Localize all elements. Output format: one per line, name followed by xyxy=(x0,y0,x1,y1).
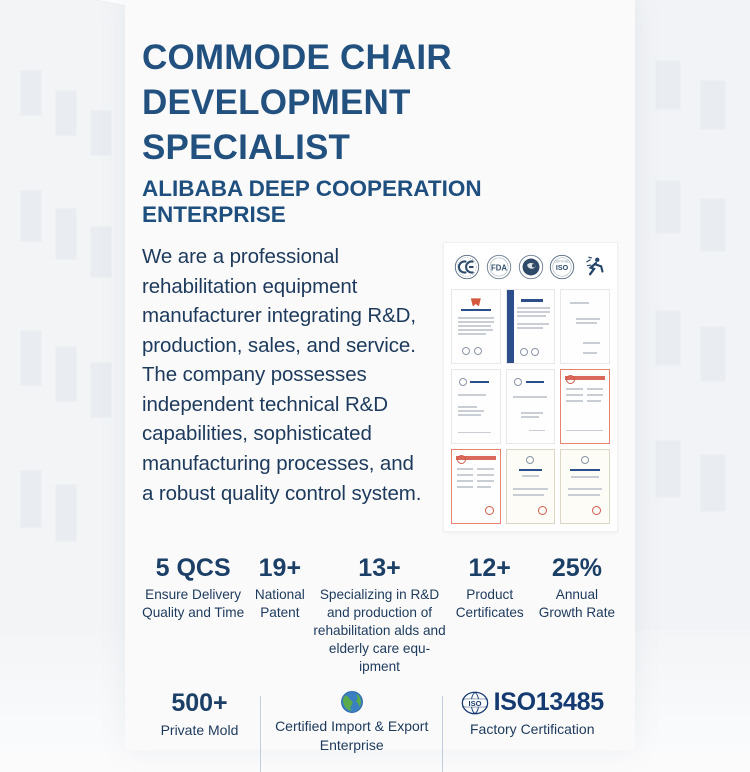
certificate-thumbnail xyxy=(560,289,610,364)
certificate-thumbnail xyxy=(506,369,556,444)
globe-icon xyxy=(340,690,364,714)
window xyxy=(55,484,77,542)
stat-item: 19+ National Patent xyxy=(247,554,312,622)
bottom-row: 500+ Private Mold Certified Import & Exp… xyxy=(125,688,635,772)
svg-text:FDA: FDA xyxy=(491,264,507,273)
page-title-line2: DEVELOPMENT SPECIALIST xyxy=(142,81,617,171)
svg-text:CERTIFIED: CERTIFIED xyxy=(555,260,570,264)
bottom-label: Private Mold xyxy=(139,721,260,740)
window xyxy=(655,60,681,110)
iso-certification-item: ISO ISO13485 Factory Certification xyxy=(443,688,621,739)
intro-section: We are a professional rehabilitation equ… xyxy=(125,228,635,532)
window xyxy=(655,440,681,498)
bottom-label: Factory Certification xyxy=(443,720,621,739)
circle-badge-icon xyxy=(518,254,544,280)
window xyxy=(700,198,726,252)
window xyxy=(20,70,42,116)
iso-badge-icon: ISO CERTIFIED xyxy=(549,254,575,280)
stat-number: 19+ xyxy=(247,554,312,584)
window xyxy=(90,110,112,156)
window xyxy=(700,326,726,382)
stat-number: 12+ xyxy=(447,554,533,584)
bottom-number: 500+ xyxy=(139,688,260,718)
fda-badge-icon: FDA xyxy=(486,254,512,280)
window xyxy=(55,208,77,260)
window xyxy=(20,330,42,386)
import-export-item: Certified Import & Export Enterprise xyxy=(261,688,442,755)
ce-badge-icon xyxy=(454,254,480,280)
window xyxy=(55,346,77,402)
certificate-thumbnail xyxy=(560,369,610,444)
stat-number: 5 QCS xyxy=(139,554,247,584)
stat-label: National Patent xyxy=(247,586,312,622)
stat-label: Annual Growth Rate xyxy=(533,586,621,622)
certificate-thumbnail xyxy=(451,449,501,524)
stat-label: Specializing in R&D and production of re… xyxy=(312,586,446,676)
svg-text:ISO: ISO xyxy=(556,264,569,272)
window xyxy=(20,190,42,242)
stats-row: 5 QCS Ensure Delivery Quality and Time 1… xyxy=(125,532,635,676)
stat-label: Ensure Delivery Quality and Time xyxy=(139,586,247,622)
window xyxy=(90,362,112,418)
header-block: COMMODE CHAIR DEVELOPMENT SPECIALIST ALI… xyxy=(125,0,635,228)
stat-item: 12+ Product Certificates xyxy=(447,554,533,622)
stat-item: 25% Annual Growth Rate xyxy=(533,554,621,622)
svg-text:ISO: ISO xyxy=(468,699,481,708)
window xyxy=(700,454,726,512)
page-title-line1: COMMODE CHAIR xyxy=(142,36,617,81)
bottom-label: Certified Import & Export Enterprise xyxy=(269,717,434,755)
page-subtitle: ALIBABA DEEP COOPERATION ENTERPRISE xyxy=(142,176,617,228)
stat-number: 13+ xyxy=(312,554,446,584)
stat-number: 25% xyxy=(533,554,621,584)
certificate-thumbnail xyxy=(451,369,501,444)
figure-badge-icon xyxy=(581,254,607,280)
certificate-thumbnail xyxy=(506,289,556,364)
certification-badge-row: FDA ISO CERTIFIED xyxy=(451,252,610,280)
window xyxy=(55,90,77,136)
iso-standard-number: ISO13485 xyxy=(494,688,604,717)
stat-item: 5 QCS Ensure Delivery Quality and Time xyxy=(139,554,247,622)
private-mold-item: 500+ Private Mold xyxy=(139,688,260,740)
certificate-thumbnail xyxy=(560,449,610,524)
window xyxy=(655,310,681,366)
window xyxy=(20,470,42,528)
iso-logo-icon: ISO xyxy=(461,691,489,715)
window xyxy=(700,80,726,130)
certificate-thumbnail-grid xyxy=(451,289,610,524)
window xyxy=(90,226,112,278)
iso-logo-line: ISO ISO13485 xyxy=(443,688,621,717)
window xyxy=(655,180,681,234)
intro-paragraph: We are a professional rehabilitation equ… xyxy=(142,242,430,532)
stat-label: Product Certificates xyxy=(447,586,533,622)
certificate-thumbnail xyxy=(506,449,556,524)
certificates-card: FDA ISO CERTIFIED xyxy=(443,242,618,532)
content-panel: COMMODE CHAIR DEVELOPMENT SPECIALIST ALI… xyxy=(125,0,635,750)
certificate-thumbnail xyxy=(451,289,501,364)
stat-item: 13+ Specializing in R&D and production o… xyxy=(312,554,446,676)
